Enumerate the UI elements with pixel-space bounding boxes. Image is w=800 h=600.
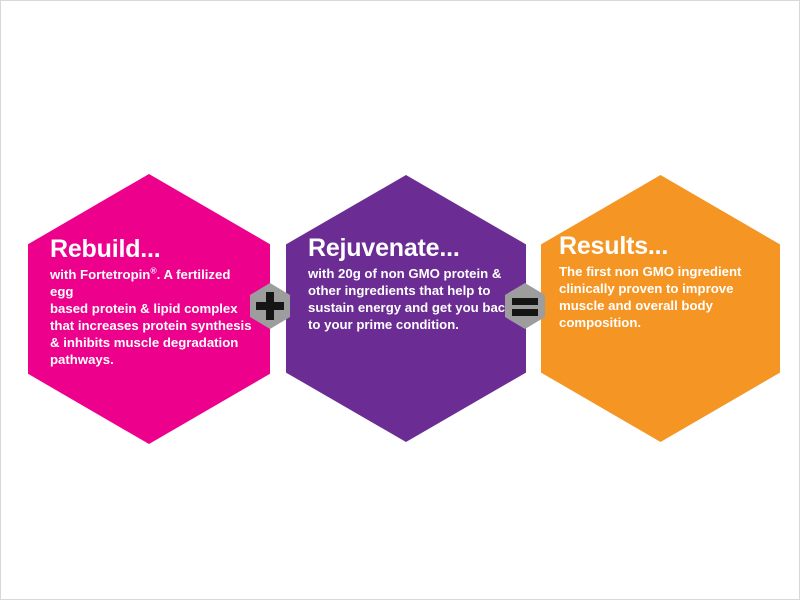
body-line: muscle and overall body bbox=[559, 298, 713, 313]
body-line: with Fortetropin®. A fertilized egg bbox=[50, 267, 230, 299]
step-card-results-title: Results... bbox=[559, 233, 768, 260]
step-card-rebuild[interactable]: Rebuild... with Fortetropin®. A fertiliz… bbox=[28, 174, 270, 444]
equals-icon-bottom-bar bbox=[512, 309, 538, 316]
step-card-rejuvenate[interactable]: Rejuvenate... with 20g of non GMO protei… bbox=[286, 175, 526, 442]
equals-icon-top-bar bbox=[512, 298, 538, 305]
step-card-rebuild-content: Rebuild... with Fortetropin®. A fertiliz… bbox=[50, 236, 256, 368]
step-card-rebuild-body: with Fortetropin®. A fertilized egg base… bbox=[50, 266, 256, 369]
step-card-rejuvenate-body: with 20g of non GMO protein & other ingr… bbox=[308, 265, 514, 334]
body-line: clinically proven to improve bbox=[559, 281, 733, 296]
step-card-rejuvenate-content: Rejuvenate... with 20g of non GMO protei… bbox=[308, 235, 514, 333]
body-line: The first non GMO ingredient bbox=[559, 264, 741, 279]
body-line: to your prime condition. bbox=[308, 317, 459, 332]
body-line: sustain energy and get you back bbox=[308, 300, 512, 315]
body-line: that increases protein synthesis bbox=[50, 318, 252, 333]
step-card-results-body: The first non GMO ingredient clinically … bbox=[559, 263, 768, 332]
step-card-results-content: Results... The first non GMO ingredient … bbox=[559, 233, 768, 331]
infographic-canvas: Rebuild... with Fortetropin®. A fertiliz… bbox=[0, 0, 800, 600]
plus-icon-horizontal-bar bbox=[256, 302, 284, 310]
step-card-rejuvenate-title: Rejuvenate... bbox=[308, 235, 514, 262]
body-line: composition. bbox=[559, 315, 641, 330]
body-line: based protein & lipid complex bbox=[50, 301, 238, 316]
step-card-rebuild-title: Rebuild... bbox=[50, 236, 256, 263]
step-card-results[interactable]: Results... The first non GMO ingredient … bbox=[541, 175, 780, 442]
body-line: & inhibits muscle degradation bbox=[50, 335, 238, 350]
body-line: pathways. bbox=[50, 352, 114, 367]
body-line: other ingredients that help to bbox=[308, 283, 490, 298]
body-line: with 20g of non GMO protein & bbox=[308, 266, 501, 281]
